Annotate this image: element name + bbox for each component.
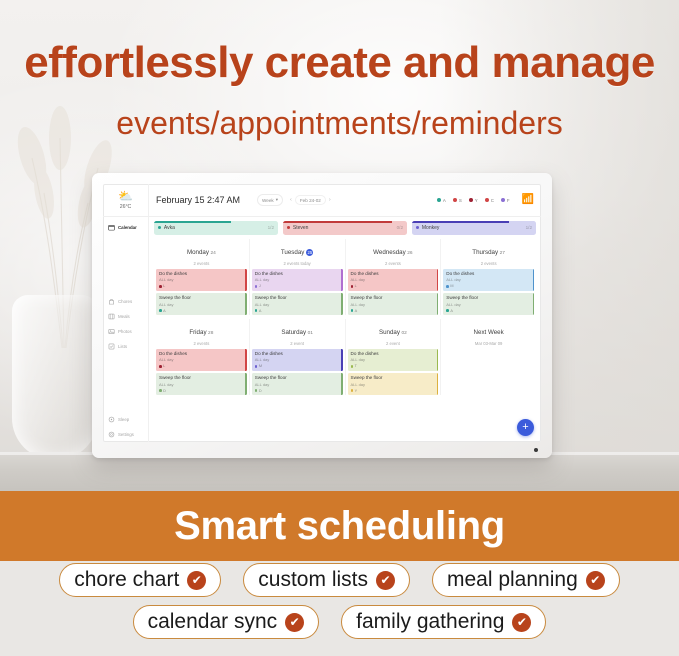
promo-headline: effortlessly create and manage <box>0 38 679 88</box>
event-assignee: M <box>255 364 340 368</box>
event-assignee: D <box>255 389 340 393</box>
app-body: Calendar Chores Meals <box>103 217 541 442</box>
event-time: ALL day <box>159 382 244 387</box>
feature-pill-row: chore chart ✔ custom lists ✔ meal planni… <box>0 563 679 597</box>
assignee-initial: L <box>163 284 165 288</box>
pill-label: custom lists <box>258 568 368 592</box>
smart-scheduling-banner: Smart scheduling <box>0 491 679 561</box>
day-event-count: 2 events <box>154 261 249 266</box>
calendar-content: Avka 1/2 Steven 0/2 Monkey 1/2 <box>149 217 541 442</box>
assignee-initial: A <box>450 309 453 313</box>
topbar-main: February 15 2:47 AM Week ▾ ‹ Feb 24-02 ›… <box>149 184 541 216</box>
lists-icon <box>108 343 115 350</box>
day-number: 02 <box>401 331 406 336</box>
feature-pill-row: calendar sync ✔ family gathering ✔ <box>0 605 679 639</box>
event-color-bar <box>341 373 342 395</box>
check-icon: ✔ <box>376 571 395 590</box>
event-card[interactable]: Do the dishesALL dayT <box>348 349 439 371</box>
next-range-button[interactable]: › <box>329 197 331 203</box>
pill-label: family gathering <box>356 610 504 634</box>
event-time: ALL day <box>159 277 244 282</box>
avatar-dot <box>453 198 458 203</box>
event-title: Do the dishes <box>255 351 340 356</box>
check-icon: ✔ <box>586 571 605 590</box>
event-time: ALL day <box>351 277 436 282</box>
avatar-list: A S Y C F <box>437 195 534 205</box>
day-number: 26 <box>407 251 412 256</box>
event-color-bar <box>533 293 534 315</box>
sidebar-item-photos[interactable]: Photos <box>103 324 148 339</box>
event-title: Sweep the floor <box>255 375 340 380</box>
sidebar-item-label: Meals <box>118 314 130 319</box>
event-assignee: A <box>159 309 244 313</box>
wifi-icon[interactable]: 📶 <box>522 195 534 205</box>
day-header: Wednesday262 events <box>346 239 441 269</box>
assignee-dot <box>351 309 354 312</box>
avatar-letter: A <box>443 198 446 203</box>
avatar-dot <box>469 198 474 203</box>
check-icon: ✔ <box>285 613 304 632</box>
avatar[interactable]: A <box>437 198 446 203</box>
event-assignee: J <box>255 284 340 288</box>
avatar-dot <box>485 198 490 203</box>
event-card[interactable]: Sweep the floorALL dayD <box>252 373 343 395</box>
sidebar-item-chores[interactable]: Chores <box>103 294 148 309</box>
pill-label: calendar sync <box>148 610 278 634</box>
event-title: Sweep the floor <box>255 295 340 300</box>
date-range-label[interactable]: Feb 24-02 <box>295 195 326 205</box>
event-title: Sweep the floor <box>159 375 244 380</box>
assignee-dot <box>446 285 449 288</box>
event-assignee: T <box>351 364 436 368</box>
event-time: ALL day <box>446 302 531 307</box>
event-time: ALL day <box>351 357 436 362</box>
event-list: Do the dishesALL dayTSweep the floorALL … <box>346 349 441 396</box>
event-title: Do the dishes <box>351 271 436 276</box>
weather-widget[interactable]: ⛅ 26°C <box>103 184 149 216</box>
event-title: Do the dishes <box>351 351 436 356</box>
day-number: 01 <box>308 331 313 336</box>
assignee-initial: M <box>450 284 453 288</box>
event-color-bar <box>245 269 246 291</box>
day-event-count: 2 events <box>441 261 536 266</box>
assignee-dot <box>159 309 162 312</box>
date-range-nav: ‹ Feb 24-02 › <box>290 195 331 205</box>
assignee-initial: A <box>259 309 262 313</box>
assignee-dot <box>255 389 258 392</box>
day-number: 24 <box>210 251 215 256</box>
event-card[interactable]: Do the dishesALL dayM <box>252 349 343 371</box>
event-color-bar <box>245 293 246 315</box>
event-color-bar <box>341 349 342 371</box>
event-time: ALL day <box>255 277 340 282</box>
event-title: Do the dishes <box>159 271 244 276</box>
event-color-bar <box>437 349 438 371</box>
current-datetime: February 15 2:47 AM <box>156 195 240 205</box>
day-column[interactable]: Sunday022 eventDo the dishesALL dayTSwee… <box>345 319 441 395</box>
sidebar-item-label: Chores <box>118 299 132 304</box>
event-assignee: Y <box>351 389 436 393</box>
day-column[interactable]: Monday242 eventsDo the dishesALL dayLSwe… <box>154 239 249 315</box>
event-card[interactable]: Do the dishesALL dayJ <box>252 269 343 291</box>
day-column[interactable]: Wednesday262 eventsDo the dishesALL dayL… <box>345 239 441 315</box>
banner-title: Smart scheduling <box>174 504 505 549</box>
person-chip[interactable]: Steven 0/2 <box>283 221 407 235</box>
event-time: ALL day <box>255 357 340 362</box>
avatar[interactable]: C <box>485 198 494 203</box>
chip-name: Monkey <box>422 225 440 231</box>
chip-name: Avka <box>164 225 175 231</box>
event-assignee: A <box>446 309 531 313</box>
event-time: ALL day <box>446 277 531 282</box>
day-event-count: 2 event <box>250 341 345 346</box>
event-color-bar <box>533 269 534 291</box>
assignee-initial: D <box>163 389 166 393</box>
event-assignee: M <box>446 284 531 288</box>
chip-dot <box>416 226 419 229</box>
day-header: Saturday012 event <box>250 319 345 349</box>
event-card[interactable]: Sweep the floorALL dayA <box>443 293 534 315</box>
day-column[interactable]: Tuesday252 events todayDo the dishesALL … <box>249 239 345 315</box>
day-header: Next WeekMar 03-Mar 09 <box>441 319 536 349</box>
settings-icon <box>108 431 115 438</box>
event-card[interactable]: Sweep the floorALL dayA <box>252 293 343 315</box>
event-list: Do the dishesALL dayLSweep the floorALL … <box>154 269 249 316</box>
person-chip[interactable]: Monkey 1/2 <box>412 221 536 235</box>
app-topbar: ⛅ 26°C February 15 2:47 AM Week ▾ ‹ Feb … <box>103 184 541 217</box>
weather-temperature: 26°C <box>120 204 132 210</box>
avatar-letter: F <box>507 198 510 203</box>
assignee-initial: L <box>163 364 165 368</box>
event-time: ALL day <box>255 302 340 307</box>
person-chip[interactable]: Avka 1/2 <box>154 221 278 235</box>
assignee-dot <box>255 365 258 368</box>
view-selector-label: Week <box>262 198 274 203</box>
assignee-dot <box>159 285 162 288</box>
week-row: Friday282 eventsDo the dishesALL dayLSwe… <box>154 319 536 395</box>
day-title: Friday <box>189 329 206 336</box>
event-title: Do the dishes <box>159 351 244 356</box>
day-title: Thursday <box>472 249 498 256</box>
sidebar-item-calendar[interactable]: Calendar <box>103 220 148 235</box>
event-assignee: L <box>351 284 436 288</box>
event-time: ALL day <box>159 357 244 362</box>
sidebar-item-label: Settings <box>118 432 134 437</box>
avatar-letter: Y <box>475 198 478 203</box>
event-color-bar <box>437 293 438 315</box>
assignee-dot <box>255 285 258 288</box>
event-card[interactable]: Sweep the floorALL dayD <box>156 373 247 395</box>
sidebar-item-lists[interactable]: Lists <box>103 339 148 354</box>
sleep-icon <box>108 416 115 423</box>
check-icon: ✔ <box>187 571 206 590</box>
day-column[interactable]: Thursday272 eventsDo the dishesALL dayMS… <box>440 239 536 315</box>
day-number: 28 <box>208 331 213 336</box>
assignee-initial: M <box>259 364 262 368</box>
event-color-bar <box>341 293 342 315</box>
sidebar-item-label: Lists <box>118 344 127 349</box>
sidebar-item-meals[interactable]: Meals <box>103 309 148 324</box>
feature-pill-meal-planning[interactable]: meal planning ✔ <box>432 563 620 597</box>
day-column[interactable]: Next WeekMar 03-Mar 09 <box>440 319 536 395</box>
meals-icon <box>108 313 115 320</box>
assignee-dot <box>351 365 354 368</box>
chip-count: 1/2 <box>526 225 532 230</box>
sidebar-item-settings[interactable]: Settings <box>103 427 148 442</box>
chip-count: 1/2 <box>268 225 274 230</box>
assignee-initial: D <box>259 389 262 393</box>
day-event-count: 2 events <box>154 341 249 346</box>
assignee-initial: A <box>163 309 166 313</box>
add-event-button[interactable]: + <box>517 419 534 436</box>
day-header: Tuesday252 events today <box>250 239 345 269</box>
event-list: Do the dishesALL dayMSweep the floorALL … <box>441 269 536 316</box>
tablet-screen: ⛅ 26°C February 15 2:47 AM Week ▾ ‹ Feb … <box>103 184 541 442</box>
sun-behind-cloud-icon: ⛅ <box>118 190 133 202</box>
event-assignee: D <box>159 389 244 393</box>
week-grid: Monday242 eventsDo the dishesALL dayLSwe… <box>154 239 536 395</box>
event-time: ALL day <box>255 382 340 387</box>
assignee-initial: Y <box>355 389 358 393</box>
chip-dot <box>158 226 161 229</box>
tablet-device: ⛅ 26°C February 15 2:47 AM Week ▾ ‹ Feb … <box>92 173 552 458</box>
avatar-dot <box>437 198 442 203</box>
promo-subheadline: events/appointments/reminders <box>0 105 679 142</box>
person-chip-row: Avka 1/2 Steven 0/2 Monkey 1/2 <box>154 221 536 235</box>
event-list: Do the dishesALL dayJSweep the floorALL … <box>250 269 345 316</box>
day-title: Next Week <box>474 329 504 336</box>
chevron-down-icon: ▾ <box>276 197 278 203</box>
assignee-initial: A <box>355 309 358 313</box>
event-title: Do the dishes <box>446 271 531 276</box>
event-color-bar <box>437 269 438 291</box>
day-title: Saturday <box>281 329 306 336</box>
event-time: ALL day <box>351 382 436 387</box>
chip-name: Steven <box>293 225 309 231</box>
day-event-count: 2 events <box>346 261 441 266</box>
pill-label: chore chart <box>74 568 179 592</box>
avatar-dot <box>501 198 506 203</box>
sidebar-item-sleep[interactable]: Sleep <box>103 412 148 427</box>
assignee-initial: J <box>259 284 261 288</box>
event-title: Sweep the floor <box>351 375 436 380</box>
event-time: ALL day <box>351 302 436 307</box>
event-color-bar <box>245 373 246 395</box>
sidebar-spacer <box>103 235 148 294</box>
event-card[interactable]: Sweep the floorALL dayY <box>348 373 439 395</box>
day-event-count: 2 event <box>346 341 441 346</box>
sidebar: Calendar Chores Meals <box>103 217 149 442</box>
next-week-range: Mar 03-Mar 09 <box>441 341 536 346</box>
day-title: Monday <box>187 249 209 256</box>
view-selector[interactable]: Week ▾ <box>257 194 283 206</box>
event-list: Do the dishesALL dayMSweep the floorALL … <box>250 349 345 396</box>
avatar-letter: C <box>491 198 494 203</box>
assignee-dot <box>446 309 449 312</box>
avatar[interactable]: F <box>501 198 510 203</box>
event-color-bar <box>437 373 438 395</box>
day-column[interactable]: Friday282 eventsDo the dishesALL dayLSwe… <box>154 319 249 395</box>
event-card[interactable]: Do the dishesALL dayL <box>156 349 247 371</box>
assignee-initial: L <box>355 284 357 288</box>
feature-pill-calendar-sync[interactable]: calendar sync ✔ <box>133 605 320 639</box>
event-title: Do the dishes <box>255 271 340 276</box>
sidebar-spacer <box>103 354 148 413</box>
day-header: Monday242 events <box>154 239 249 269</box>
event-time: ALL day <box>159 302 244 307</box>
day-number: 27 <box>500 251 505 256</box>
event-card[interactable]: Do the dishesALL dayM <box>443 269 534 291</box>
sidebar-item-label: Calendar <box>118 225 137 230</box>
chip-progress-bar <box>154 221 231 223</box>
event-list: Do the dishesALL dayLSweep the floorALL … <box>346 269 441 316</box>
day-event-count: 2 events today <box>250 261 345 266</box>
day-title: Wednesday <box>373 249 406 256</box>
check-icon: ✔ <box>512 613 531 632</box>
chip-progress-bar <box>412 221 509 223</box>
chores-icon <box>108 298 115 305</box>
photos-icon <box>108 328 115 335</box>
event-card[interactable]: Do the dishesALL dayL <box>156 269 247 291</box>
event-color-bar <box>341 269 342 291</box>
sidebar-item-label: Photos <box>118 329 132 334</box>
feature-pill-custom-lists[interactable]: custom lists ✔ <box>243 563 410 597</box>
event-title: Sweep the floor <box>446 295 531 300</box>
avatar[interactable]: Y <box>469 198 478 203</box>
event-color-bar <box>245 349 246 371</box>
day-title: Sunday <box>379 329 400 336</box>
event-card[interactable]: Sweep the floorALL dayA <box>348 293 439 315</box>
chip-count: 0/2 <box>397 225 403 230</box>
feature-pill-chore-chart[interactable]: chore chart ✔ <box>59 563 221 597</box>
glass-vase <box>12 295 98 460</box>
calendar-icon <box>108 224 115 231</box>
event-title: Sweep the floor <box>159 295 244 300</box>
feature-pill-section: chore chart ✔ custom lists ✔ meal planni… <box>0 563 679 647</box>
chip-progress-bar <box>283 221 392 223</box>
event-title: Sweep the floor <box>351 295 436 300</box>
event-card[interactable]: Sweep the floorALL dayA <box>156 293 247 315</box>
sidebar-item-label: Sleep <box>118 417 129 422</box>
assignee-initial: T <box>355 364 357 368</box>
pill-label: meal planning <box>447 568 578 592</box>
chip-dot <box>287 226 290 229</box>
assignee-dot <box>351 285 354 288</box>
assignee-dot <box>255 309 258 312</box>
day-column[interactable]: Saturday012 eventDo the dishesALL dayMSw… <box>249 319 345 395</box>
assignee-dot <box>159 389 162 392</box>
event-card[interactable]: Do the dishesALL dayL <box>348 269 439 291</box>
avatar-letter: S <box>459 198 462 203</box>
day-number-today: 25 <box>306 249 313 256</box>
day-header: Thursday272 events <box>441 239 536 269</box>
assignee-dot <box>159 365 162 368</box>
day-title: Tuesday <box>281 249 305 256</box>
prev-range-button[interactable]: ‹ <box>290 197 292 203</box>
day-header: Sunday022 event <box>346 319 441 349</box>
event-assignee: L <box>159 364 244 368</box>
assignee-dot <box>351 389 354 392</box>
event-assignee: L <box>159 284 244 288</box>
feature-pill-family-gathering[interactable]: family gathering ✔ <box>341 605 546 639</box>
event-list: Do the dishesALL dayLSweep the floorALL … <box>154 349 249 396</box>
event-assignee: A <box>255 309 340 313</box>
avatar[interactable]: S <box>453 198 462 203</box>
event-assignee: A <box>351 309 436 313</box>
week-row: Monday242 eventsDo the dishesALL dayLSwe… <box>154 239 536 315</box>
day-header: Friday282 events <box>154 319 249 349</box>
